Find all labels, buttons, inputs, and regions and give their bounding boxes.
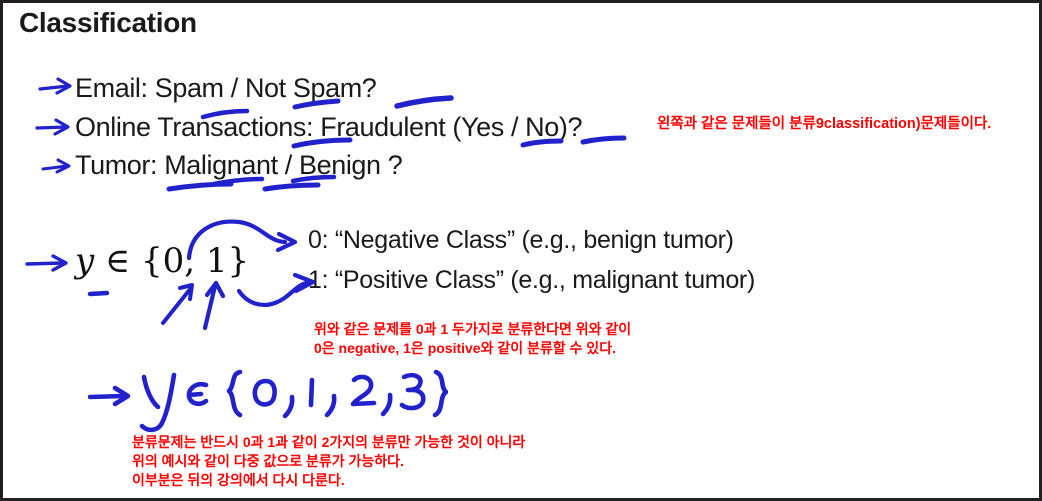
class-definition-negative: 0: “Negative Class” (e.g., benign tumor) bbox=[308, 226, 734, 255]
page-title: Classification bbox=[19, 7, 197, 39]
up-arrow-to-one-head bbox=[207, 283, 223, 296]
underline-variable-y bbox=[90, 293, 107, 294]
formula-set: {0, 1} bbox=[141, 241, 249, 281]
bullet-label: Online Transactions: Fraudulent (Yes / N… bbox=[75, 112, 582, 143]
formula-element-of: ∈ bbox=[105, 241, 130, 281]
up-arrow-to-zero bbox=[163, 288, 191, 323]
binary-class-formula: y ∈ {0, 1} bbox=[75, 241, 249, 281]
annotation-middle: 위와 같은 문제를 0과 1 두가지로 분류한다면 위와 같이 0은 negat… bbox=[314, 320, 631, 358]
hand-arrow-icon bbox=[35, 115, 75, 139]
annotation-bottom: 분류문제는 반드시 0과 1과 같이 2가지의 분류만 가능한 것이 아니라 위… bbox=[132, 433, 525, 490]
curve-arrow-to-negative-head bbox=[278, 234, 295, 250]
underline-malignant bbox=[169, 184, 231, 189]
class-definition-positive: 1: “Positive Class” (e.g., malignant tum… bbox=[308, 266, 755, 295]
hand-arrow-icon bbox=[38, 75, 78, 99]
hand-arrow-icon bbox=[25, 253, 73, 275]
bullet-item-transactions: Online Transactions: Fraudulent (Yes / N… bbox=[75, 112, 582, 143]
bullet-item-email: Email: Spam / Not Spam? bbox=[75, 73, 376, 104]
bullet-item-tumor: Tumor: Malignant / Benign ? bbox=[75, 150, 402, 181]
slide-canvas: Classification Email: Spam / Not Spam? O… bbox=[0, 0, 1042, 501]
handwritten-multiclass-formula bbox=[88, 363, 448, 435]
underline-not-spam bbox=[397, 98, 451, 106]
bullet-label: Tumor: Malignant / Benign ? bbox=[75, 150, 402, 181]
formula-variable-y: y bbox=[75, 241, 94, 281]
underline-benign bbox=[265, 185, 318, 189]
up-arrow-to-one bbox=[205, 286, 215, 328]
underline-no bbox=[583, 138, 624, 142]
curve-arrow-to-positive bbox=[239, 283, 306, 305]
annotation-right: 왼쪽과 같은 문제들이 분류9classification)문제들이다. bbox=[657, 115, 991, 134]
bullet-label: Email: Spam / Not Spam? bbox=[75, 73, 376, 104]
up-arrow-to-zero-head bbox=[180, 285, 192, 299]
hand-arrow-icon bbox=[39, 155, 79, 179]
